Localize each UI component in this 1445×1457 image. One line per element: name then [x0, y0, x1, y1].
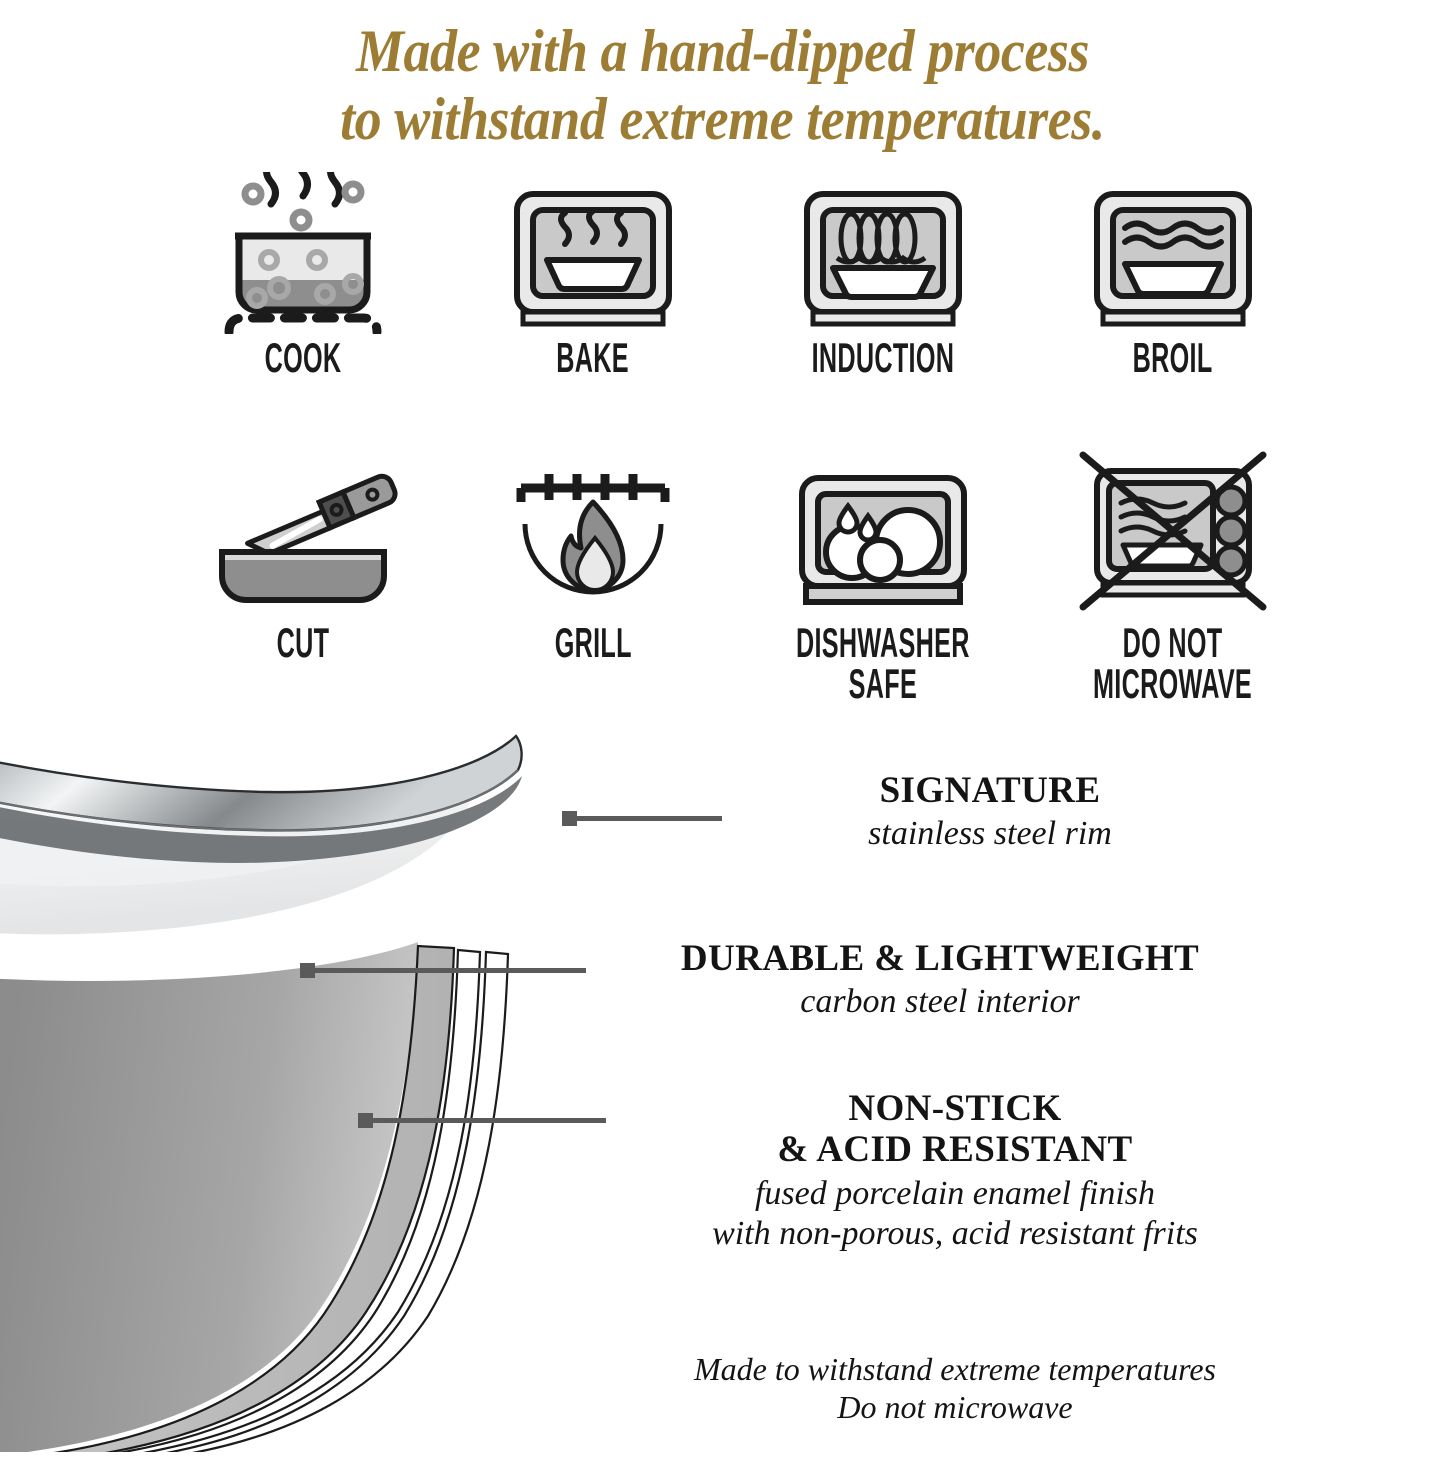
callout-durable-lightweight: DURABLE & LIGHTWEIGHT carbon steel inter… [590, 938, 1290, 1022]
infographic-page: Made with a hand-dipped process to withs… [0, 0, 1445, 1445]
cook-icon [213, 172, 393, 334]
footnote-text: Made to withstand extreme temperatures D… [610, 1350, 1300, 1427]
icon-cell-cook: COOK [158, 172, 448, 378]
callout-title: SIGNATURE [680, 770, 1300, 811]
page-headline: Made with a hand-dipped process to withs… [72, 18, 1373, 154]
icon-label-do-not-microwave: DO NOT MICROWAVE [1093, 623, 1252, 704]
cut-icon [208, 464, 398, 619]
icon-label-cook: COOK [265, 338, 342, 378]
icon-cell-broil: BROIL [1028, 172, 1318, 378]
icon-label-broil: BROIL [1133, 338, 1213, 378]
callout-signature: SIGNATURE stainless steel rim [680, 770, 1300, 854]
icon-label-dishwasher-safe: DISHWASHER SAFE [796, 623, 970, 704]
icon-row-1: COOK BAKE [158, 172, 1318, 378]
callout-non-stick-acid-resistant: NON-STICK & ACID RESISTANT fused porcela… [610, 1088, 1300, 1253]
callout-subtitle: fused porcelain enamel finish with non-p… [610, 1174, 1300, 1254]
icon-cell-do-not-microwave: DO NOT MICROWAVE [1028, 464, 1318, 704]
induction-icon [793, 172, 973, 334]
callout-title: NON-STICK & ACID RESISTANT [610, 1088, 1300, 1171]
icon-cell-bake: BAKE [448, 172, 738, 378]
icon-cell-dishwasher-safe: DISHWASHER SAFE [738, 464, 1028, 704]
leader-line-durable [308, 968, 586, 973]
dishwasher-safe-icon [788, 464, 978, 619]
icon-label-bake: BAKE [557, 338, 630, 378]
bake-icon [503, 172, 683, 334]
broil-icon [1083, 172, 1263, 334]
icon-cell-induction: INDUCTION [738, 172, 1028, 378]
cookware-cutaway-illustration [0, 612, 628, 1457]
callout-subtitle: stainless steel rim [680, 814, 1300, 854]
callout-subtitle: carbon steel interior [590, 982, 1290, 1022]
do-not-microwave-icon [1073, 464, 1273, 619]
grill-icon [503, 464, 683, 619]
icon-label-induction: INDUCTION [812, 338, 955, 378]
leader-line-nonstick [366, 1118, 606, 1123]
callout-title: DURABLE & LIGHTWEIGHT [590, 938, 1290, 979]
